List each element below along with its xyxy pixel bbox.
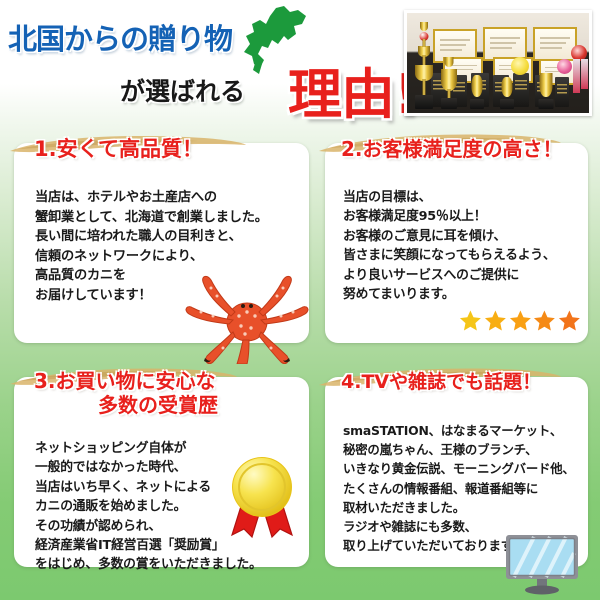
- gold-medal-icon: [222, 455, 302, 539]
- reason-card-1-heading: 1.安くて高品質！: [34, 133, 203, 163]
- star-icon: [533, 309, 556, 332]
- star-icon: [558, 309, 581, 332]
- header-sub-text: が選ばれる: [120, 72, 245, 108]
- star-icon: [484, 309, 507, 332]
- reason-card-2-heading: 2.お客様満足度の高さ！: [341, 133, 563, 162]
- footer-strip: [0, 570, 600, 600]
- promo-banner: 北国からの贈り物 が選ばれる 理由!: [0, 0, 600, 600]
- banner-header: 北国からの贈り物 が選ばれる 理由!: [0, 0, 600, 126]
- star-icon: [459, 309, 482, 332]
- brand-logo: 北国からの贈り物: [8, 16, 258, 62]
- header-emphasis-text: 理由!: [288, 50, 418, 129]
- rating-stars: [459, 309, 581, 335]
- king-crab-icon: [183, 272, 311, 364]
- reason-card-2-body: 当店の目標は、 お客様満足度95％以上！ お客様のご意見に耳を傾け、 皆さまに笑…: [343, 188, 555, 304]
- reason-card-3-heading-line2: 多数の受賞歴: [98, 389, 218, 418]
- awards-photo: [404, 10, 592, 116]
- star-icon: [509, 309, 532, 332]
- brand-logo-text: 北国からの贈り物: [8, 16, 258, 62]
- awards-photo-inner: [407, 13, 589, 113]
- reason-card-4-heading: 4.TVや雑誌でも話題！: [341, 367, 541, 394]
